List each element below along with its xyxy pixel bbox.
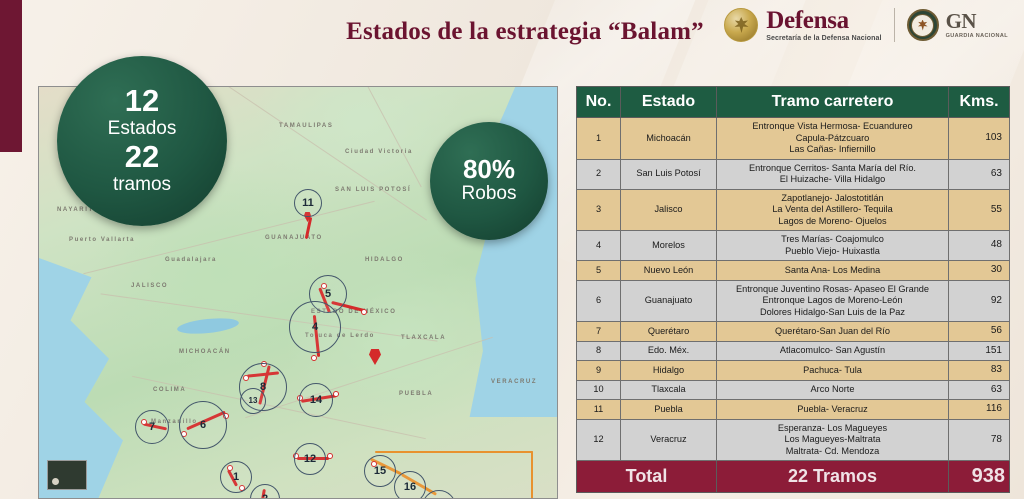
map-marker-label: 6: [200, 420, 206, 431]
kpi-tramos-label: tramos: [113, 174, 171, 197]
table-row: 1MichoacánEntronque Vista Hermosa- Ecuan…: [577, 118, 1010, 160]
map-marker-label: 7: [149, 422, 155, 433]
cell-tramo: Entronque Juventino Rosas- Apaseo El Gra…: [717, 280, 949, 322]
map-marker-label: 1: [233, 472, 239, 483]
brand-lockup: Defensa Secretaría de la Defensa Naciona…: [724, 8, 1008, 42]
cell-tramo: Pachuca- Tula: [717, 361, 949, 381]
cell-no: 8: [577, 341, 621, 361]
cell-no: 7: [577, 322, 621, 342]
map-marker-11[interactable]: 11: [294, 189, 322, 217]
cell-estado: Hidalgo: [621, 361, 717, 381]
cell-tramo: Esperanza- Los MagueyesLos Magueyes-Malt…: [717, 419, 949, 461]
map-marker-label: 14: [310, 395, 322, 406]
map-marker-13[interactable]: 13: [240, 388, 266, 414]
table-row: 7QuerétaroQuerétaro-San Juan del Río56: [577, 322, 1010, 342]
cell-estado: Tlaxcala: [621, 380, 717, 400]
slide-root: Estados de la estrategia “Balam” Defensa…: [0, 0, 1024, 499]
table-row: 4MorelosTres Marías- CoajomulcoPueblo Vi…: [577, 231, 1010, 261]
table-total-row: Total22 Tramos938: [577, 461, 1010, 493]
cell-no: 2: [577, 159, 621, 189]
map-marker-15[interactable]: 15: [364, 455, 396, 487]
column-header-no: No.: [577, 87, 621, 118]
cell-estado: Morelos: [621, 231, 717, 261]
cell-kms: 92: [949, 280, 1010, 322]
kpi-robos-label: Robos: [462, 183, 517, 206]
cell-estado: Edo. Méx.: [621, 341, 717, 361]
map-place-label: MICHOACÁN: [179, 349, 231, 355]
cell-estado: Guanajuato: [621, 280, 717, 322]
map-provider-watermark: [47, 460, 87, 490]
map-route-node: [333, 391, 339, 397]
map-place-label: TLAXCALA: [401, 335, 446, 341]
map-marker-label: 16: [404, 482, 416, 493]
map-place-label: VERACRUZ: [491, 379, 537, 385]
cell-estado: Nuevo León: [621, 261, 717, 281]
table-body: 1MichoacánEntronque Vista Hermosa- Ecuan…: [577, 118, 1010, 493]
map-marker-1[interactable]: 1: [220, 461, 252, 493]
table-row: 12VeracruzEsperanza- Los MagueyesLos Mag…: [577, 419, 1010, 461]
map-marker-6[interactable]: 6: [179, 401, 227, 449]
cell-no: 6: [577, 280, 621, 322]
map-route-node: [311, 355, 317, 361]
cell-estado: Querétaro: [621, 322, 717, 342]
cell-tramo: Querétaro-San Juan del Río: [717, 322, 949, 342]
map-place-label: COLIMA: [153, 387, 186, 393]
column-header-kms: Kms.: [949, 87, 1010, 118]
map-place-label: HIDALGO: [365, 257, 404, 263]
map-marker-14[interactable]: 14: [299, 383, 333, 417]
cell-estado: Jalisco: [621, 189, 717, 231]
cell-kms: 116: [949, 400, 1010, 420]
kpi-estados-tramos: 12 Estados 22 tramos: [57, 56, 227, 226]
map-route-node: [327, 453, 333, 459]
map-marker-label: 4: [312, 322, 318, 333]
cell-no: 1: [577, 118, 621, 160]
brand-divider: [894, 8, 895, 42]
map-marker-12[interactable]: 12: [294, 443, 326, 475]
map-route-segment: [531, 451, 533, 499]
cell-estado: Veracruz: [621, 419, 717, 461]
map-marker-16[interactable]: 16: [394, 471, 426, 499]
cell-kms: 78: [949, 419, 1010, 461]
table-header-row: No. Estado Tramo carretero Kms.: [577, 87, 1010, 118]
map-marker-label: 12: [304, 454, 316, 465]
table-row: 2San Luis PotosíEntronque Cerritos- Sant…: [577, 159, 1010, 189]
cell-no: 4: [577, 231, 621, 261]
map-place-label: TAMAULIPAS: [279, 123, 333, 129]
table-row: 5Nuevo LeónSanta Ana- Los Medina30: [577, 261, 1010, 281]
cell-estado: San Luis Potosí: [621, 159, 717, 189]
tramos-table: No. Estado Tramo carretero Kms. 1Michoac…: [576, 86, 1010, 493]
gn-subtitle: GUARDIA NACIONAL: [946, 34, 1008, 40]
cell-tramo: Santa Ana- Los Medina: [717, 261, 949, 281]
map-place-label: NAYARIT: [57, 207, 94, 213]
cell-kms: 56: [949, 322, 1010, 342]
map-route-node: [361, 309, 367, 315]
cell-kms: 151: [949, 341, 1010, 361]
guardia-nacional-logo: GN GUARDIA NACIONAL: [907, 9, 1008, 41]
map-marker-label: 15: [374, 466, 386, 477]
map-marker-label: 2: [262, 494, 268, 499]
column-header-tramo: Tramo carretero: [717, 87, 949, 118]
cell-no: 5: [577, 261, 621, 281]
total-tramos: 22 Tramos: [717, 461, 949, 493]
cell-kms: 83: [949, 361, 1010, 381]
table-row: 3JaliscoZapotlanejo- JalostotitlánLa Ven…: [577, 189, 1010, 231]
cell-kms: 63: [949, 380, 1010, 400]
cell-no: 10: [577, 380, 621, 400]
cell-estado: Puebla: [621, 400, 717, 420]
map-marker-label: 5: [325, 289, 331, 300]
eagle-seal-icon: [724, 8, 758, 42]
cell-no: 12: [577, 419, 621, 461]
total-kms: 938: [949, 461, 1010, 493]
cell-kms: 48: [949, 231, 1010, 261]
map-route-segment: [375, 451, 533, 453]
guardia-nacional-seal-icon: [907, 9, 939, 41]
table-row: 10TlaxcalaArco Norte63: [577, 380, 1010, 400]
cell-kms: 55: [949, 189, 1010, 231]
kpi-robos-number: 80%: [463, 156, 515, 184]
map-place-label: JALISCO: [131, 283, 168, 289]
cell-no: 9: [577, 361, 621, 381]
page-title: Estados de la estrategia “Balam”: [290, 18, 760, 46]
map-place-label: Ciudad Victoria: [345, 149, 413, 155]
kpi-tramos-number: 22: [125, 141, 159, 174]
map-marker-4[interactable]: 4: [289, 301, 341, 353]
table-row: 11PueblaPuebla- Veracruz116: [577, 400, 1010, 420]
cell-no: 3: [577, 189, 621, 231]
map-place-label: GUANAJUATO: [265, 235, 323, 241]
cell-tramo: Entronque Vista Hermosa- EcuandureoCapul…: [717, 118, 949, 160]
cell-estado: Michoacán: [621, 118, 717, 160]
cell-tramo: Arco Norte: [717, 380, 949, 400]
cell-tramo: Puebla- Veracruz: [717, 400, 949, 420]
sedena-subtitle: Secretaría de la Defensa Nacional: [766, 35, 881, 42]
cell-no: 11: [577, 400, 621, 420]
map-place-label: Guadalajara: [165, 257, 217, 263]
kpi-estados-label: Estados: [108, 118, 177, 141]
map-marker-label: 11: [302, 198, 314, 209]
table-row: 8Edo. Méx.Atlacomulco- San Agustín151: [577, 341, 1010, 361]
cell-tramo: Tres Marías- CoajomulcoPueblo Viejo- Hui…: [717, 231, 949, 261]
total-label: Total: [577, 461, 717, 493]
column-header-estado: Estado: [621, 87, 717, 118]
cell-tramo: Entronque Cerritos- Santa María del Río.…: [717, 159, 949, 189]
sedena-wordmark: Defensa: [766, 8, 881, 33]
cell-kms: 30: [949, 261, 1010, 281]
map-place-label: Puerto Vallarta: [69, 237, 135, 243]
cell-kms: 63: [949, 159, 1010, 189]
kpi-robos: 80% Robos: [430, 122, 548, 240]
cell-tramo: Zapotlanejo- JalostotitlánLa Venta del A…: [717, 189, 949, 231]
left-accent-band: [0, 0, 22, 152]
map-place-label: SAN LUIS POTOSÍ: [335, 187, 411, 193]
gn-wordmark: GN: [946, 11, 1008, 32]
map-place-label: PUEBLA: [399, 391, 433, 397]
kpi-estados-number: 12: [125, 85, 159, 118]
map-marker-7[interactable]: 7: [135, 410, 169, 444]
map-marker-label: 13: [249, 397, 258, 405]
table-row: 9HidalgoPachuca- Tula83: [577, 361, 1010, 381]
cell-kms: 103: [949, 118, 1010, 160]
sedena-logo: Defensa Secretaría de la Defensa Naciona…: [724, 8, 881, 42]
cell-tramo: Atlacomulco- San Agustín: [717, 341, 949, 361]
table-row: 6GuanajuatoEntronque Juventino Rosas- Ap…: [577, 280, 1010, 322]
